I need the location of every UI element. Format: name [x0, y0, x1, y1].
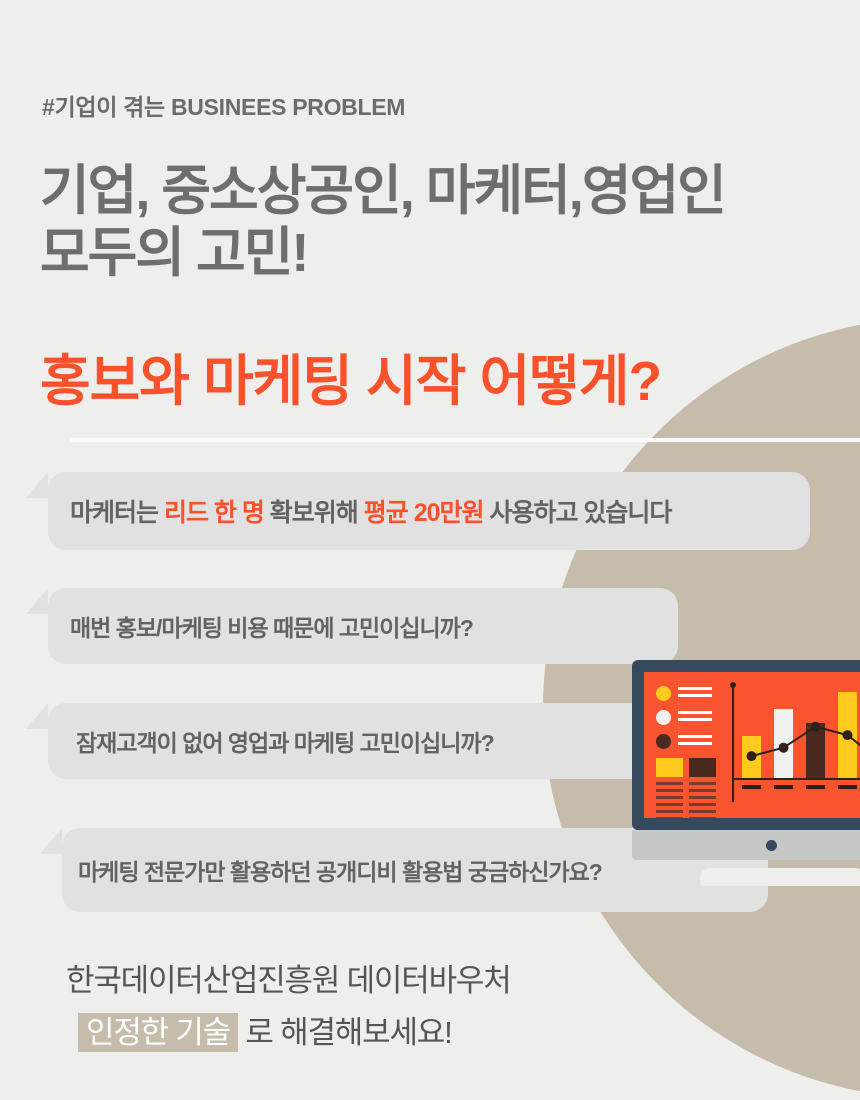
legend-dot-icon: [656, 710, 671, 725]
headline-line-1: 기업, 중소상공인, 마케터,영업인: [40, 160, 830, 222]
plain-phrase: 잠재고객이 없어 영업과 마케팅 고민이십니까?: [76, 730, 494, 756]
poster-canvas: #기업이 겪는 BUSINEES PROBLEM 기업, 중소상공인, 마케터,…: [0, 0, 860, 1100]
legend-text-lines-icon: [678, 711, 712, 725]
bubble-3-text: 잠재고객이 없어 영업과 마케팅 고민이십니까?: [76, 724, 494, 758]
speech-bubble-3: 잠재고객이 없어 영업과 마케팅 고민이십니까?: [48, 703, 678, 779]
kicker-label: #기업이 겪는 BUSINEES PROBLEM: [42, 88, 405, 122]
bubble-1-text: 마케터는 리드 한 명 확보위해 평균 20만원 사용하고 있습니다: [70, 493, 671, 529]
monitor-illustration: [632, 660, 860, 860]
bubble-tail-icon: [40, 828, 62, 854]
legend-item: [656, 686, 722, 701]
headline-line-2: 모두의 고민!: [40, 222, 830, 284]
legend-swatches: [656, 758, 722, 777]
highlighted-phrase: 리드 한 명: [164, 499, 264, 527]
legend-item: [656, 734, 722, 749]
legend-text-lines-icon: [678, 687, 712, 701]
chart-trend-line: [732, 684, 860, 818]
legend-item: [656, 710, 722, 725]
chart-line-point: [843, 730, 853, 740]
bar-chart: [732, 684, 860, 806]
closing-highlight: 인정한 기술: [78, 1013, 238, 1052]
legend-dot-icon: [656, 734, 671, 749]
plain-phrase: 마케팅 전문가만 활용하던 공개디비 활용법 궁금하신가요?: [78, 859, 602, 885]
plain-phrase: 사용하고 있습니다: [484, 499, 672, 527]
chart-line-point: [779, 743, 789, 753]
chart-line-point: [811, 722, 821, 732]
bubble-tail-icon: [26, 472, 48, 498]
monitor-screen: [644, 672, 860, 818]
plain-phrase: 마케터는: [70, 499, 164, 527]
monitor-power-dot-icon: [766, 840, 777, 851]
highlighted-phrase: 평균 20만원: [364, 499, 484, 527]
page-title: 기업, 중소상공인, 마케터,영업인 모두의 고민!: [40, 160, 830, 284]
speech-bubble-2: 매번 홍보/마케팅 비용 때문에 고민이십니까?: [48, 588, 678, 664]
monitor-chin: [632, 830, 860, 860]
legend-swatch-icon: [656, 758, 683, 777]
legend-detail-rows: [656, 782, 722, 818]
chart-line-point: [747, 751, 757, 761]
plain-phrase: 매번 홍보/마케팅 비용 때문에 고민이십니까?: [70, 615, 473, 641]
bubble-tail-icon: [26, 588, 48, 614]
chart-legend: [656, 686, 722, 818]
legend-text-lines-icon: [678, 735, 712, 749]
legend-dot-icon: [656, 686, 671, 701]
legend-swatch-icon: [689, 758, 716, 777]
closing-line-1: 한국데이터산업진흥원 데이터바우처: [66, 963, 511, 998]
orange-subtitle: 홍보와 마케팅 시작 어떻게?: [40, 348, 661, 414]
plain-phrase: 확보위해: [264, 499, 364, 527]
closing-suffix: 로 해결해보세요!: [238, 1015, 451, 1050]
bubble-2-text: 매번 홍보/마케팅 비용 때문에 고민이십니까?: [70, 609, 473, 643]
monitor-stand: [700, 868, 860, 886]
closing-statement: 한국데이터산업진흥원 데이터바우처 인정한 기술 로 해결해보세요!: [66, 955, 511, 1059]
legend-detail-column: [656, 782, 683, 818]
monitor-bezel: [632, 660, 860, 830]
bubble-4-text: 마케팅 전문가만 활용하던 공개디비 활용법 궁금하신가요?: [78, 853, 602, 887]
closing-line-2: 인정한 기술 로 해결해보세요!: [66, 1007, 511, 1059]
divider-line: [70, 438, 860, 442]
legend-detail-column: [689, 782, 716, 818]
speech-bubble-1: 마케터는 리드 한 명 확보위해 평균 20만원 사용하고 있습니다: [48, 472, 810, 550]
bubble-tail-icon: [26, 703, 48, 729]
